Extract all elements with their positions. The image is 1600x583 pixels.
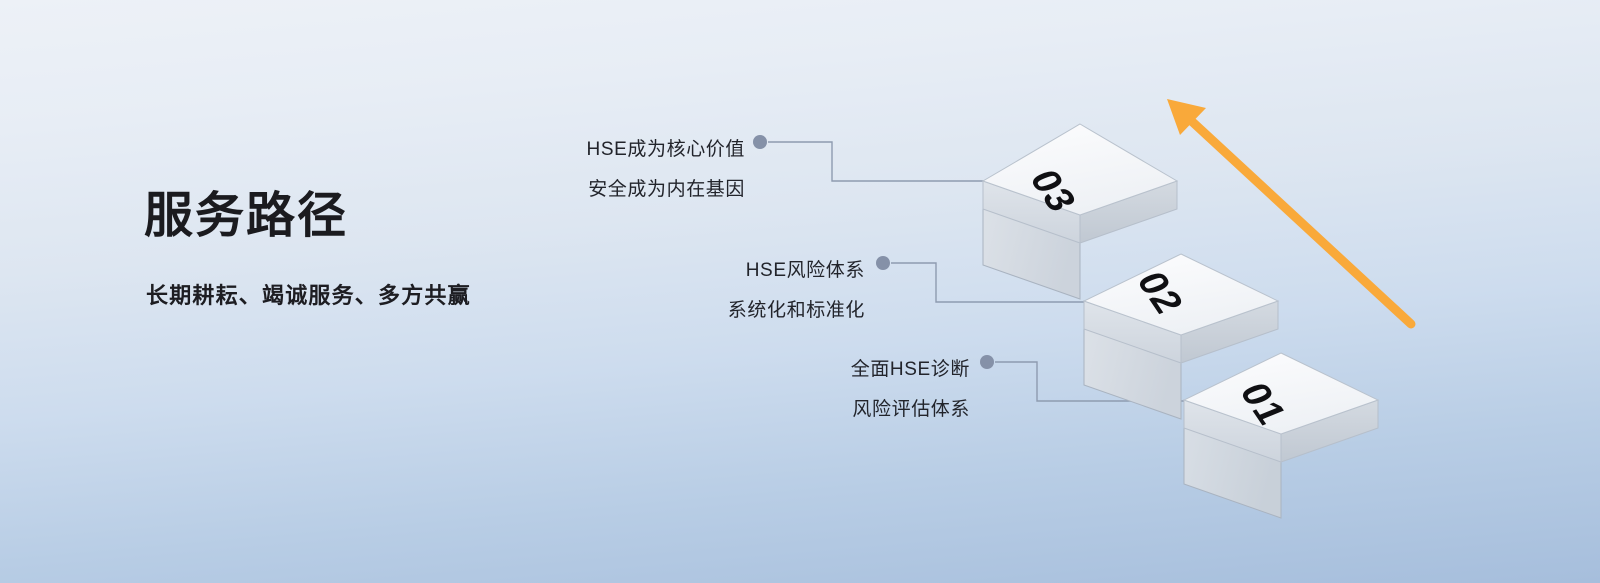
connector-dot-03: [753, 135, 767, 149]
step-block-01[interactable]: [1184, 353, 1378, 518]
callout-step-03-line-1: HSE成为核心价值: [400, 130, 745, 170]
callout-step-01-line-2: 风险评估体系: [625, 390, 970, 430]
slide-canvas: 服务路径 长期耕耘、竭诚服务、多方共赢: [0, 0, 1600, 583]
callout-step-01-line-1: 全面HSE诊断: [625, 350, 970, 390]
callout-step-03-line-2: 安全成为内在基因: [400, 170, 745, 210]
callout-step-02-line-1: HSE风险体系: [520, 251, 865, 291]
callout-step-03: HSE成为核心价值 安全成为内在基因: [400, 130, 745, 210]
connector-dot-01: [980, 355, 994, 369]
callout-step-02: HSE风险体系 系统化和标准化: [520, 251, 865, 331]
connector-line-3: [768, 142, 1000, 181]
callout-step-02-line-2: 系统化和标准化: [520, 291, 865, 331]
callout-step-01: 全面HSE诊断 风险评估体系: [625, 350, 970, 430]
connector-dot-02: [876, 256, 890, 270]
